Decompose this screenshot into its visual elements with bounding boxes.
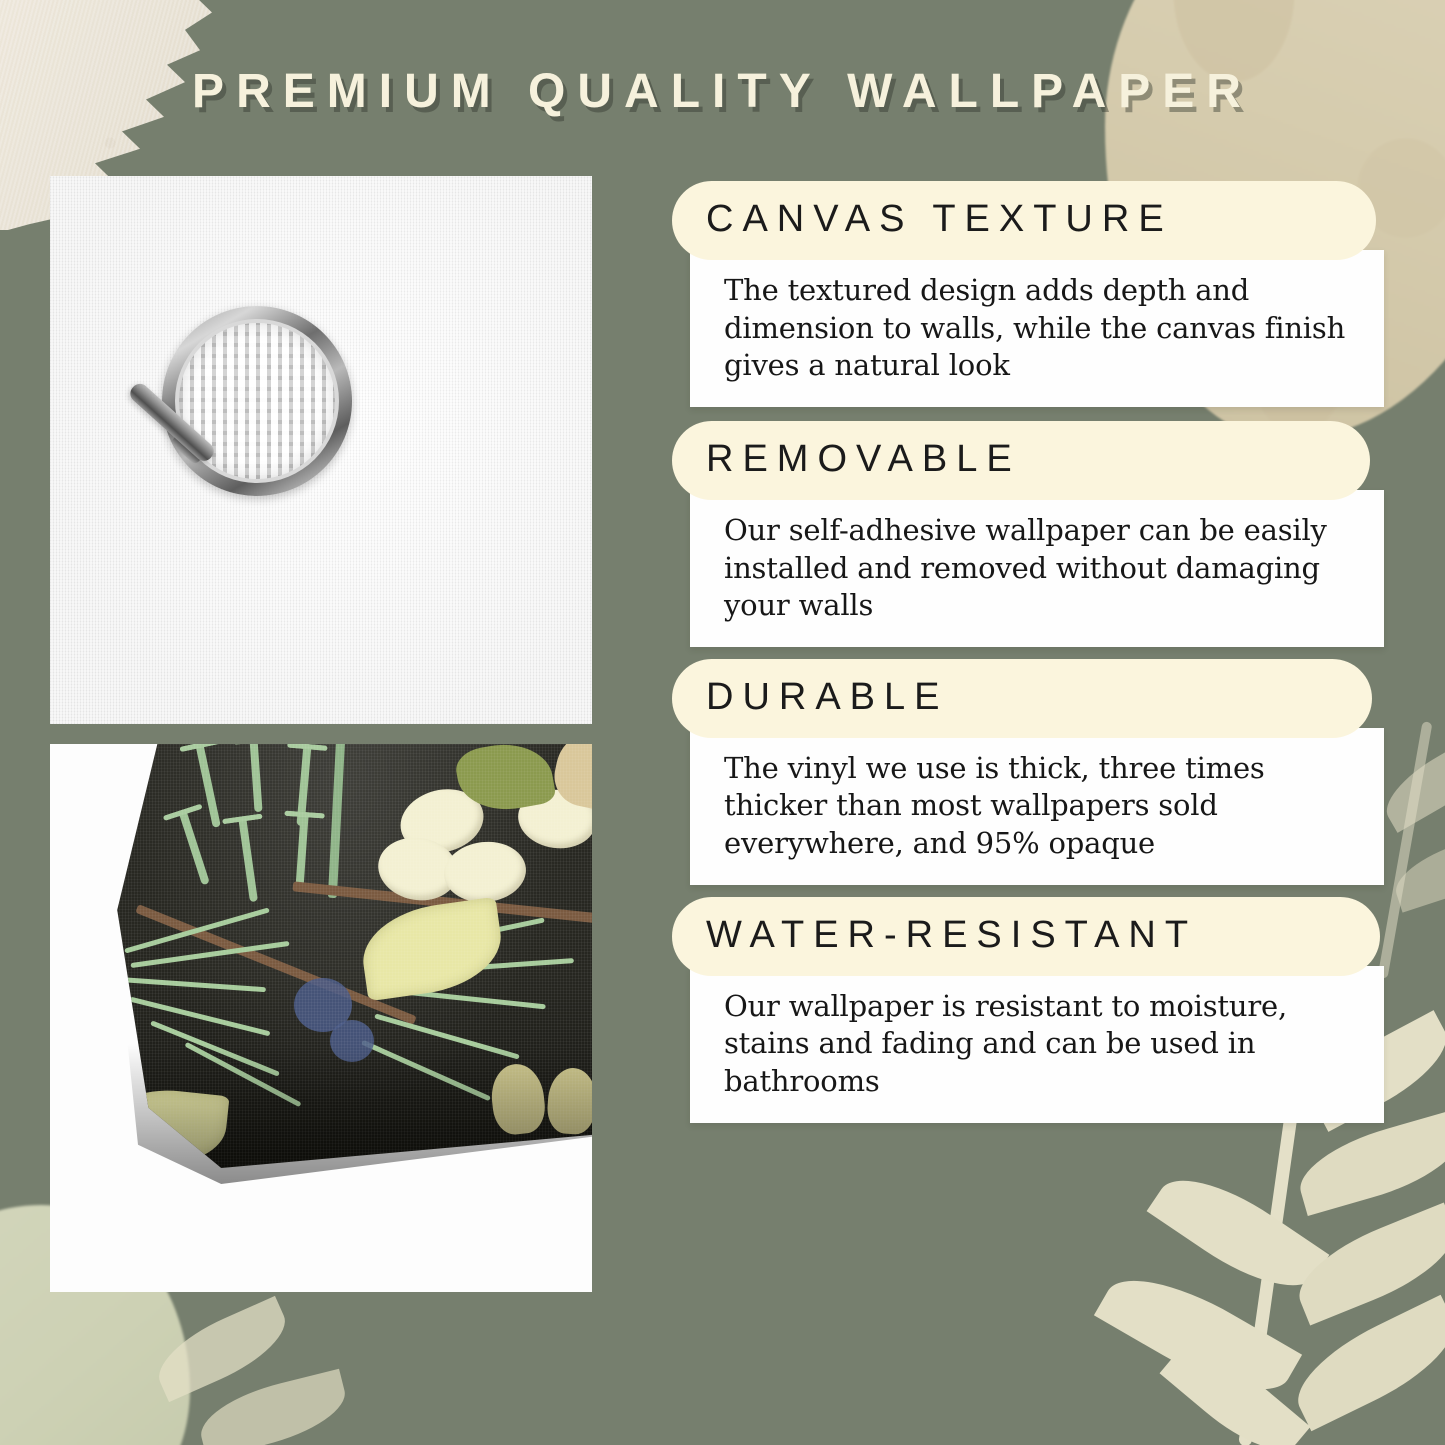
- feature-heading-label: CANVAS TEXTURE: [706, 200, 1342, 240]
- feature-heading-pill: WATER-RESISTANT: [672, 897, 1380, 976]
- feature-heading-pill: CANVAS TEXTURE: [672, 181, 1376, 260]
- feature-body-text: The textured design adds depth and dimen…: [724, 272, 1358, 385]
- feature-heading-label: WATER-RESISTANT: [706, 916, 1346, 956]
- feature-body-panel: The textured design adds depth and dimen…: [690, 250, 1384, 407]
- feature-body-text: Our wallpaper is resistant to moisture, …: [724, 988, 1358, 1101]
- feature-card-canvas-texture: CANVAS TEXTURE The textured design adds …: [672, 181, 1384, 407]
- feature-body-text: Our self-adhesive wallpaper can be easil…: [724, 512, 1358, 625]
- feature-card-durable: DURABLE The vinyl we use is thick, three…: [672, 659, 1384, 885]
- feature-body-panel: Our self-adhesive wallpaper can be easil…: [690, 490, 1384, 647]
- wallpaper-roll: [86, 744, 592, 1168]
- feature-card-water-resistant: WATER-RESISTANT Our wallpaper is resista…: [672, 897, 1384, 1123]
- feature-heading-pill: DURABLE: [672, 659, 1372, 738]
- page-title: PREMIUM QUALITY WALLPAPER: [0, 64, 1445, 119]
- feature-card-list: CANVAS TEXTURE The textured design adds …: [672, 181, 1384, 1133]
- feature-body-text: The vinyl we use is thick, three times t…: [724, 750, 1358, 863]
- magnifying-glass-icon: [162, 306, 352, 496]
- feature-body-panel: Our wallpaper is resistant to moisture, …: [690, 966, 1384, 1123]
- feature-body-panel: The vinyl we use is thick, three times t…: [690, 728, 1384, 885]
- feature-card-removable: REMOVABLE Our self-adhesive wallpaper ca…: [672, 421, 1384, 647]
- feature-heading-pill: REMOVABLE: [672, 421, 1370, 500]
- rolled-wallpaper-photo: [50, 744, 592, 1292]
- feature-heading-label: REMOVABLE: [706, 440, 1336, 480]
- feature-heading-label: DURABLE: [706, 678, 1338, 718]
- canvas-texture-photo: [50, 176, 592, 724]
